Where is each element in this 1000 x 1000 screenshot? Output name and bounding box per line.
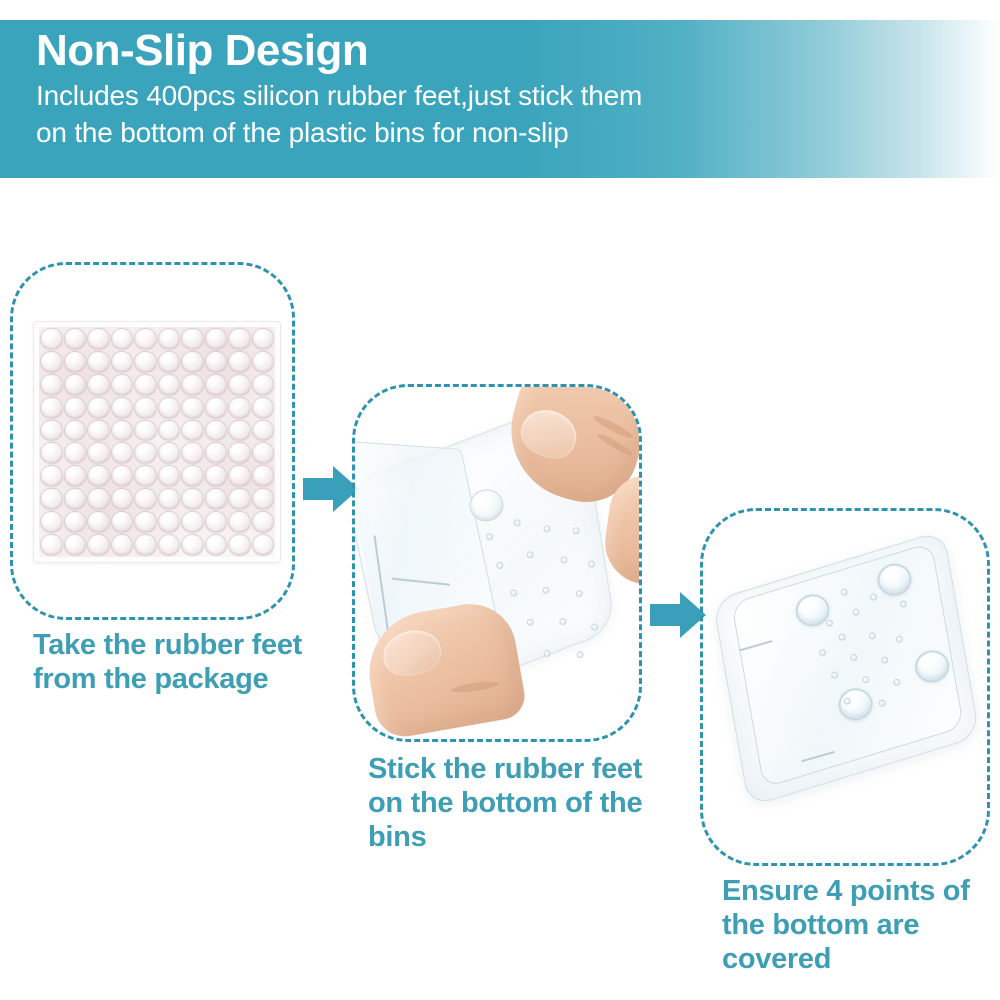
rubber-foot-dot [64, 465, 87, 487]
bin-surface-speck [543, 649, 551, 657]
rubber-foot-dot [252, 351, 275, 373]
rubber-foot-dot [228, 534, 251, 556]
rubber-foot-dot [228, 488, 251, 510]
rubber-foot-dot [40, 442, 63, 464]
rubber-foot-dot [87, 351, 110, 373]
rubber-foot-dot [111, 511, 134, 533]
rubber-foot-dot [134, 420, 157, 442]
rubber-feet-sheet [33, 321, 281, 563]
rubber-foot-dot [111, 351, 134, 373]
rubber-foot-dot [111, 420, 134, 442]
rubber-foot-dot [252, 534, 275, 556]
rubber-foot-dot [181, 488, 204, 510]
rubber-foot-dot [205, 397, 228, 419]
rubber-foot-dot [87, 465, 110, 487]
rubber-feet-grid [40, 328, 274, 556]
rubber-foot-dot [40, 328, 63, 350]
rubber-foot-dot [111, 397, 134, 419]
rubber-foot-dot [134, 328, 157, 350]
rubber-foot-dot [111, 534, 134, 556]
rubber-foot-dot [181, 534, 204, 556]
step-2-caption: Stick the rubber feet on the bottom of t… [368, 752, 668, 855]
header-subtitle-line-1: Includes 400pcs silicon rubber feet,just… [36, 78, 1000, 115]
rubber-foot-dot [252, 374, 275, 396]
rubber-foot-dot [205, 488, 228, 510]
rubber-foot-dot [181, 511, 204, 533]
rubber-foot-dot [64, 374, 87, 396]
page-title: Non-Slip Design [36, 28, 1000, 74]
rubber-foot-dot [205, 511, 228, 533]
rubber-foot-dot [228, 328, 251, 350]
rubber-foot-dot [252, 488, 275, 510]
rubber-foot-dot [181, 374, 204, 396]
rubber-foot-dot [228, 374, 251, 396]
rubber-foot-dot [64, 351, 87, 373]
rubber-foot-dot [40, 420, 63, 442]
rubber-foot-dot [205, 374, 228, 396]
rubber-foot-dot [40, 465, 63, 487]
rubber-foot-dot [228, 465, 251, 487]
rubber-foot-dot [158, 442, 181, 464]
rubber-foot-dot [252, 397, 275, 419]
rubber-foot-dot [134, 374, 157, 396]
rubber-foot-dot [228, 420, 251, 442]
rubber-foot-dot [87, 420, 110, 442]
rubber-foot-dot [87, 374, 110, 396]
rubber-foot-dot [181, 465, 204, 487]
rubber-foot-dot [181, 397, 204, 419]
rubber-foot-dot [64, 511, 87, 533]
rubber-foot-dot [111, 374, 134, 396]
clear-bin-bottom-view [703, 516, 987, 830]
rubber-foot-dot [134, 397, 157, 419]
rubber-foot-dot [64, 534, 87, 556]
rubber-foot-dot [87, 442, 110, 464]
rubber-foot-dot [252, 420, 275, 442]
rubber-foot-dot [40, 374, 63, 396]
step-panel-1 [10, 262, 295, 620]
rubber-foot-dot [111, 328, 134, 350]
rubber-foot-dot [205, 328, 228, 350]
rubber-foot-dot [134, 511, 157, 533]
step-1-caption: Take the rubber feet from the package [33, 628, 313, 696]
rubber-foot-dot [134, 488, 157, 510]
rubber-foot-dot [134, 534, 157, 556]
rubber-foot-dot [134, 442, 157, 464]
rubber-foot-dot [205, 534, 228, 556]
rubber-foot-dot [158, 511, 181, 533]
rubber-foot-dot [158, 397, 181, 419]
rubber-foot-dot [158, 351, 181, 373]
rubber-foot-dot [40, 488, 63, 510]
rubber-foot-dot [64, 488, 87, 510]
rubber-foot-dot [181, 420, 204, 442]
rubber-foot-dot [64, 442, 87, 464]
rubber-foot-dot [252, 442, 275, 464]
rubber-foot-dot [158, 534, 181, 556]
rubber-foot-dot [252, 511, 275, 533]
rubber-foot-dot [158, 465, 181, 487]
step-1-image [13, 265, 292, 617]
rubber-foot-dot [40, 534, 63, 556]
rubber-foot-dot [40, 511, 63, 533]
rubber-foot-dot [40, 351, 63, 373]
rubber-foot-dot [181, 351, 204, 373]
rubber-foot-dot [64, 420, 87, 442]
rubber-foot-dot [252, 465, 275, 487]
rubber-foot-dot [205, 420, 228, 442]
rubber-foot-dot [87, 511, 110, 533]
rubber-foot-dot [228, 511, 251, 533]
arrow-step-2-to-3-icon [650, 588, 706, 642]
step-3-image [703, 511, 987, 863]
rubber-foot-dot [158, 488, 181, 510]
rubber-foot-dot [181, 442, 204, 464]
rubber-foot-dot [252, 328, 275, 350]
rubber-foot-dot [228, 351, 251, 373]
rubber-foot-dot [205, 465, 228, 487]
step-panel-3 [700, 508, 990, 866]
rubber-foot-dot [228, 442, 251, 464]
rubber-foot-dot [87, 488, 110, 510]
step-2-image [355, 387, 639, 739]
step-3-caption: Ensure 4 points of the bottom are covere… [722, 874, 1000, 977]
rubber-foot-dot [40, 397, 63, 419]
rubber-foot-dot [181, 328, 204, 350]
rubber-foot-dot [134, 351, 157, 373]
rubber-foot-dot [158, 328, 181, 350]
rubber-foot-dot [134, 465, 157, 487]
header-banner: Non-Slip Design Includes 400pcs silicon … [0, 20, 1000, 178]
rubber-foot-dot [87, 328, 110, 350]
rubber-foot-dot [64, 397, 87, 419]
header-subtitle-line-2: on the bottom of the plastic bins for no… [36, 115, 1000, 152]
rubber-foot-dot [64, 328, 87, 350]
rubber-foot-dot [87, 534, 110, 556]
rubber-foot-dot [111, 442, 134, 464]
rubber-foot-dot [228, 397, 251, 419]
step-panel-2 [352, 384, 642, 742]
rubber-foot-dot [205, 442, 228, 464]
rubber-foot-dot [111, 488, 134, 510]
rubber-foot-dot [205, 351, 228, 373]
rubber-foot-dot [158, 420, 181, 442]
bin-surface-speck [576, 651, 584, 659]
rubber-foot-dot [111, 465, 134, 487]
rubber-foot-dot [87, 397, 110, 419]
arrow-step-1-to-2-icon [303, 462, 359, 516]
rubber-foot-dot [158, 374, 181, 396]
